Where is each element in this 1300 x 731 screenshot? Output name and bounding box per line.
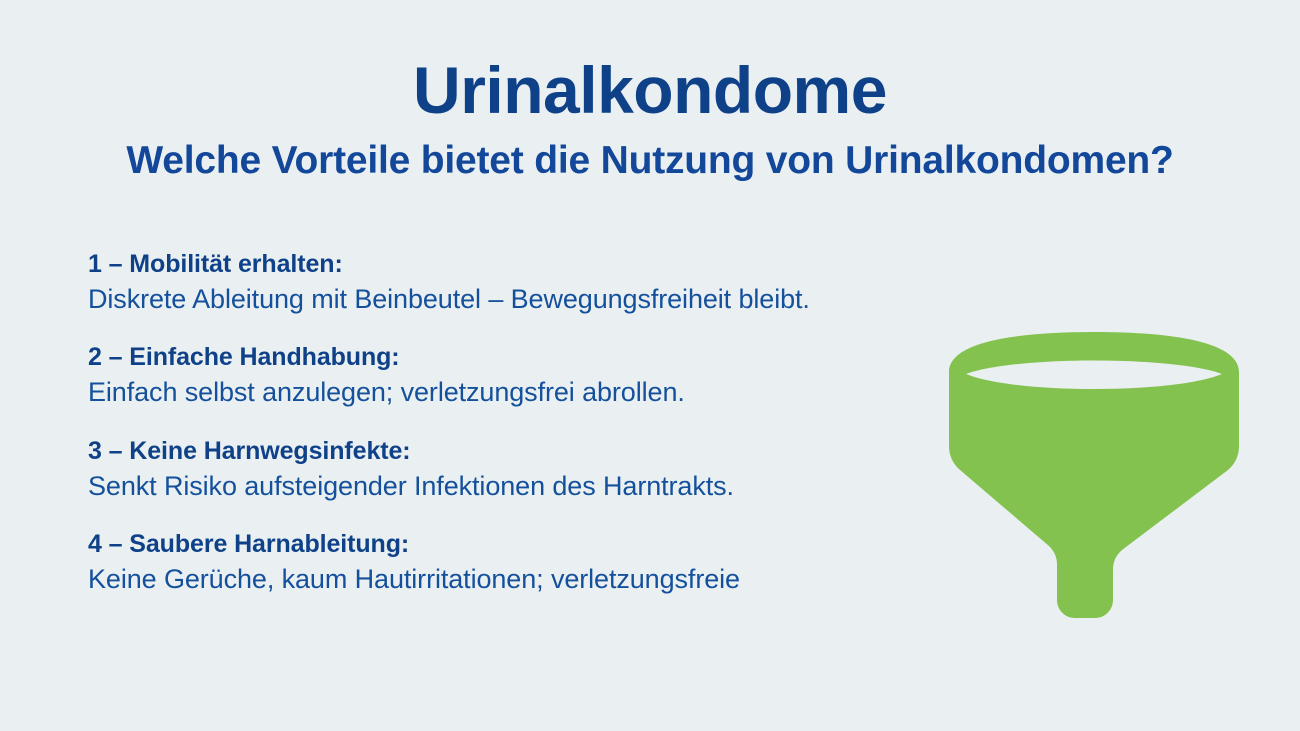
- benefit-body: Diskrete Ableitung mit Beinbeutel – Bewe…: [88, 280, 1038, 318]
- page-title: Urinalkondome: [0, 0, 1300, 123]
- funnel-icon: [944, 328, 1244, 628]
- list-item: 1 – Mobilität erhalten: Diskrete Ableitu…: [88, 248, 1038, 318]
- benefit-body: Keine Gerüche, kaum Hautirritationen; ve…: [88, 560, 1038, 598]
- benefit-list: 1 – Mobilität erhalten: Diskrete Ableitu…: [88, 248, 1038, 598]
- header: Urinalkondome Welche Vorteile bietet die…: [0, 0, 1300, 182]
- benefit-body: Einfach selbst anzulegen; verletzungsfre…: [88, 373, 1038, 411]
- list-item: 2 – Einfache Handhabung: Einfach selbst …: [88, 341, 1038, 411]
- benefit-heading: 2 – Einfache Handhabung:: [88, 341, 1038, 373]
- funnel-graphic: [944, 328, 1244, 628]
- benefit-heading: 3 – Keine Harnwegsinfekte:: [88, 435, 1038, 467]
- slide-canvas: Urinalkondome Welche Vorteile bietet die…: [0, 0, 1300, 731]
- benefit-heading: 4 – Saubere Harnableitung:: [88, 528, 1038, 560]
- benefit-heading: 1 – Mobilität erhalten:: [88, 248, 1038, 280]
- list-item: 3 – Keine Harnwegsinfekte: Senkt Risiko …: [88, 435, 1038, 505]
- benefit-body: Senkt Risiko aufsteigender Infektionen d…: [88, 467, 1038, 505]
- page-subtitle: Welche Vorteile bietet die Nutzung von U…: [0, 123, 1300, 182]
- list-item: 4 – Saubere Harnableitung: Keine Gerüche…: [88, 528, 1038, 598]
